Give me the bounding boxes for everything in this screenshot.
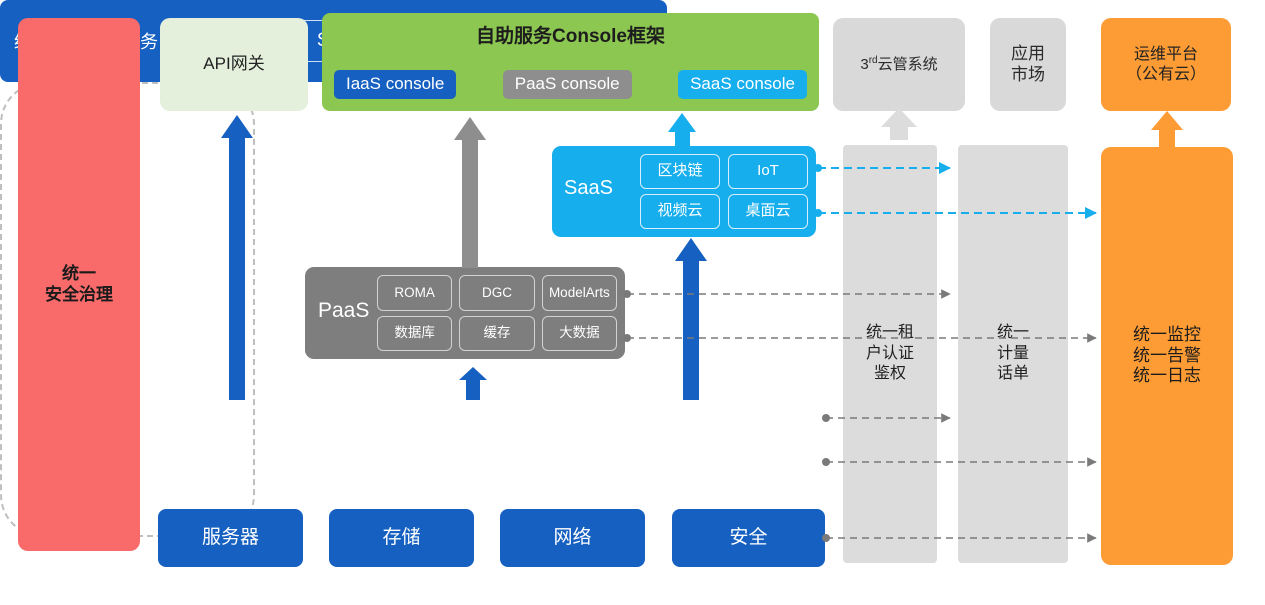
paas-console-chip[interactable]: PaaS console xyxy=(503,70,632,99)
hardware-box-server: 服务器 xyxy=(158,509,303,567)
paas-service-cache[interactable]: 缓存 xyxy=(459,316,534,352)
console-framework-panel: 自助服务Console框架 IaaS console PaaS console … xyxy=(322,13,819,111)
arrow-monitoring-to-ops-platform xyxy=(1151,111,1183,149)
third-party-cloud-mgmt-box: 3rd云管系统 xyxy=(833,18,965,111)
hardware-label-storage: 存储 xyxy=(382,526,420,549)
api-gateway-label: API网关 xyxy=(203,54,264,75)
ordinal-suffix: rd xyxy=(869,55,878,66)
hardware-box-storage: 存储 xyxy=(329,509,474,567)
paas-layer-block: PaaS ROMA DGC ModelArts 数据库 缓存 大数据 xyxy=(305,267,625,359)
paas-service-roma[interactable]: ROMA xyxy=(377,275,452,311)
hardware-label-network: 网络 xyxy=(553,526,591,549)
hardware-box-network: 网络 xyxy=(500,509,645,567)
hardware-box-security: 安全 xyxy=(672,509,825,567)
architecture-diagram: 统一 安全治理 API网关 自助服务Console框架 IaaS console… xyxy=(0,0,1265,605)
app-market-box: 应用 市场 xyxy=(990,18,1066,111)
ops-platform-box: 运维平台 （公有云） xyxy=(1101,18,1231,111)
arrow-saas-to-saas-console xyxy=(668,113,696,147)
paas-service-database[interactable]: 数据库 xyxy=(377,316,452,352)
unified-monitoring-panel: 统一监控 统一告警 统一日志 xyxy=(1101,147,1233,565)
saas-layer-label: SaaS xyxy=(564,176,613,200)
security-governance-panel: 统一 安全治理 xyxy=(18,18,140,551)
arrow-infra-to-saas xyxy=(675,238,707,400)
saas-service-video-cloud[interactable]: 视频云 xyxy=(640,194,720,229)
saas-layer-block: SaaS 区块链 IoT 视频云 桌面云 xyxy=(552,146,816,237)
security-governance-label: 统一 安全治理 xyxy=(45,264,113,305)
unified-auth-column: 统一租 户认证 鉴权 xyxy=(843,145,937,563)
saas-service-iot[interactable]: IoT xyxy=(728,154,808,189)
unified-auth-label: 统一租 户认证 鉴权 xyxy=(866,323,914,385)
arrow-shared-to-third-party xyxy=(881,108,917,140)
arrow-paas-to-console xyxy=(454,117,486,268)
paas-service-dgc[interactable]: DGC xyxy=(459,275,534,311)
paas-service-modelarts[interactable]: ModelArts xyxy=(542,275,617,311)
saas-service-blockchain[interactable]: 区块链 xyxy=(640,154,720,189)
console-chip-row: IaaS console PaaS console SaaS console xyxy=(334,70,807,99)
saas-console-chip[interactable]: SaaS console xyxy=(678,70,807,99)
unified-monitoring-label: 统一监控 统一告警 统一日志 xyxy=(1133,325,1201,387)
app-market-label: 应用 市场 xyxy=(1011,44,1045,85)
hardware-label-security: 安全 xyxy=(729,526,767,549)
unified-metering-label: 统一 计量 话单 xyxy=(997,323,1029,385)
paas-layer-label: PaaS xyxy=(318,298,369,324)
api-gateway-box: API网关 xyxy=(160,18,308,111)
console-framework-title: 自助服务Console框架 xyxy=(322,25,819,48)
hardware-label-server: 服务器 xyxy=(202,526,259,549)
iaas-console-chip[interactable]: IaaS console xyxy=(334,70,456,99)
link-dot-infra-upper xyxy=(822,414,830,422)
saas-service-grid: 区块链 IoT 视频云 桌面云 xyxy=(640,154,808,229)
third-party-cloud-mgmt-label: 3rd云管系统 xyxy=(860,55,937,74)
link-dot-infra-lower xyxy=(822,458,830,466)
paas-service-bigdata[interactable]: 大数据 xyxy=(542,316,617,352)
ops-platform-label: 运维平台 （公有云） xyxy=(1126,45,1206,84)
saas-service-desktop-cloud[interactable]: 桌面云 xyxy=(728,194,808,229)
paas-service-grid: ROMA DGC ModelArts 数据库 缓存 大数据 xyxy=(377,275,617,351)
arrow-infra-to-paas xyxy=(459,367,487,400)
unified-metering-column: 统一 计量 话单 xyxy=(958,145,1068,563)
